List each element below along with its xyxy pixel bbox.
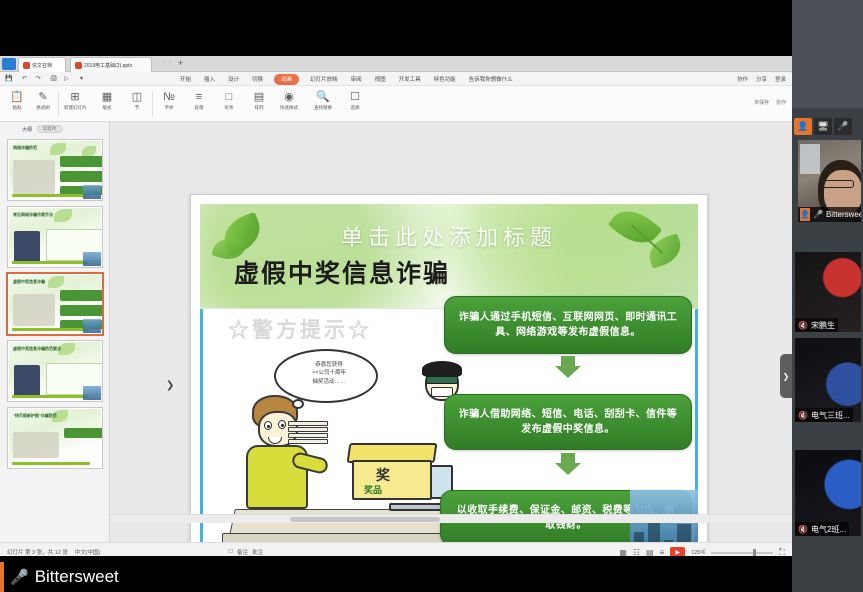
microphone-muted-icon: 🔇 xyxy=(798,411,808,420)
accent-edge xyxy=(0,562,4,592)
city-image xyxy=(83,185,101,199)
slide-thumbnail-panel[interactable]: 大纲 幻灯片 网络诈骗防范 xyxy=(0,122,110,542)
ribbon-tab-7[interactable]: 视图 xyxy=(373,74,388,84)
ribbon-button-select-label: 选择 xyxy=(344,105,366,111)
comments-button[interactable]: 批注 xyxy=(252,548,263,556)
ribbon-unsaved-label: 未保存 xyxy=(754,99,769,106)
ribbon-button-style[interactable]: ◉ 快速样式 xyxy=(278,90,300,111)
mask-shape xyxy=(426,376,458,384)
prize-box-icon: 奖 奖品 xyxy=(346,443,438,505)
thumbnail-slide-1[interactable]: 网络诈骗防范 xyxy=(7,139,103,201)
slide-content: 单击此处添加标题 虚假中奖信息诈骗 ☆警方提示☆ xyxy=(200,204,698,562)
ribbon-body: 📋 粘贴 ✎ 格式刷 ⊞ 新建幻灯片 ▦ 版式 ◫ 节 № xyxy=(0,86,792,122)
thumbnail-title: "钱币换新护照"诈骗防范 xyxy=(13,413,57,419)
document-tab-strip: 信文召档 2019电工基础(2).pptx ··· + xyxy=(0,56,792,72)
footer-bar xyxy=(12,395,88,398)
footer-bar xyxy=(12,194,90,197)
thumbnail-slide-4[interactable]: 虚假中奖信息诈骗防范要点 xyxy=(7,340,103,402)
ribbon-tab-10[interactable]: 告诉我你想做什么 xyxy=(467,74,515,84)
document-tab-0[interactable]: 信文召档 xyxy=(18,57,66,72)
ribbon-tab-2[interactable]: 设计 xyxy=(226,74,241,84)
ribbon-tab-6[interactable]: 审阅 xyxy=(349,74,364,84)
quick-access-row: 💾 ↶ ↷ 🖨 ▷ ▾ 开始 插入 设计 切换 动画 幻灯片放映 审阅 视图 开… xyxy=(0,72,792,86)
ribbon-button-format-brush[interactable]: ✎ 格式刷 xyxy=(32,90,54,111)
ribbon-button-shape-label: 形状 xyxy=(218,105,240,111)
video-rail-header xyxy=(792,0,863,108)
thumbnail-title: 常见网络诈骗作案手法 xyxy=(13,212,53,218)
ribbon-tab-0[interactable]: 开始 xyxy=(178,74,193,84)
city-image xyxy=(83,252,101,266)
slide-title[interactable]: 虚假中奖信息诈骗 xyxy=(234,254,450,290)
save-icon[interactable]: 💾 xyxy=(5,75,12,82)
illustration-placeholder xyxy=(13,432,59,458)
find-icon: 🔍 xyxy=(312,90,334,104)
ribbon-button-paste[interactable]: 📋 粘贴 xyxy=(6,90,28,111)
participant-name-2: 电气2班... xyxy=(811,524,846,535)
status-left-group: 幻灯片 第 3 张，共 12 张 中文(中国) xyxy=(7,548,101,556)
text-caret: ❯ xyxy=(166,380,174,391)
flow-box-1[interactable]: 诈骗人通过手机短信、互联网网页、即时通讯工具、网络游戏等发布虚假信息。 xyxy=(444,296,692,354)
ribbon-tab-3[interactable]: 切换 xyxy=(250,74,265,84)
ribbon-button-paragraph[interactable]: ≡ 段落 xyxy=(188,90,210,111)
format-brush-icon: ✎ xyxy=(32,90,54,104)
glasses-icon xyxy=(820,180,854,188)
arrow-stem xyxy=(561,453,575,463)
powerpoint-window: 信文召档 2019电工基础(2).pptx ··· + 💾 ↶ ↷ 🖨 ▷ ▾ … xyxy=(0,56,792,562)
flow-box xyxy=(60,156,103,167)
thumbnail-slide-5[interactable]: "钱币换新护照"诈骗防范 xyxy=(7,407,103,469)
self-video-tile[interactable]: 👤 🎤 Bittersweet xyxy=(798,140,861,222)
flow-box xyxy=(64,428,103,438)
ppt-icon xyxy=(75,62,82,69)
language-indicator[interactable]: 中文(中国) xyxy=(75,548,101,556)
ribbon-button-arrange-label: 排列 xyxy=(248,105,270,111)
video-control-row: 👤 🖥 🎤 xyxy=(794,118,852,135)
top-letterbox xyxy=(0,0,792,56)
ribbon-button-layout[interactable]: ▦ 版式 xyxy=(96,90,118,111)
ribbon-button-arrange[interactable]: ▤ 排列 xyxy=(248,90,270,111)
panel-collapse-handle[interactable]: ❯ xyxy=(780,354,792,398)
participant-tile-2[interactable]: 🔇 电气2班... xyxy=(795,450,861,536)
flow-box xyxy=(60,171,103,182)
ribbon-button-shape[interactable]: □ 形状 xyxy=(218,90,240,111)
participant-name-0: 宋鹏生 xyxy=(811,320,835,331)
shape-icon: □ xyxy=(218,90,240,104)
screen-share-icon[interactable]: 🖥 xyxy=(814,118,832,135)
city-image xyxy=(83,386,101,400)
pupil-shape xyxy=(281,424,284,427)
ribbon-right-actions: 协作 分享 登录 xyxy=(737,75,786,83)
money-stack-icon xyxy=(288,421,328,447)
window-shape xyxy=(800,144,820,174)
thumbnail-slide-2[interactable]: 常见网络诈骗作案手法 xyxy=(7,206,103,268)
horizontal-scrollbar[interactable] xyxy=(110,514,792,523)
avatar: 👤 xyxy=(800,208,810,221)
thumbnail-slide-3[interactable]: 虚假中奖信息诈骗 xyxy=(7,273,103,335)
ribbon-button-paste-label: 粘贴 xyxy=(6,105,28,111)
slide-counter: 幻灯片 第 3 张，共 12 张 xyxy=(7,548,68,556)
status-mid-group: ☐ 备注 批注 xyxy=(228,548,263,556)
participant-name-bar-2: 🔇 电气2班... xyxy=(795,522,849,536)
ribbon-divider-1 xyxy=(58,91,59,117)
microphone-muted-icon: 🔇 xyxy=(798,525,808,534)
arrow-stem xyxy=(561,356,575,366)
ribbon-divider-2 xyxy=(152,91,153,117)
prize-glyph: 奖 xyxy=(376,465,390,485)
ribbon-button-layout-label: 版式 xyxy=(96,105,118,111)
doc-icon xyxy=(23,62,30,69)
illustration-placeholder xyxy=(13,160,55,194)
ribbon-button-new-slide[interactable]: ⊞ 新建幻灯片 xyxy=(64,90,86,111)
document-tab-1-label: 2019电工基础(2).pptx xyxy=(84,62,132,69)
participants-icon[interactable]: 👤 xyxy=(794,118,812,135)
document-tab-1[interactable]: 2019电工基础(2).pptx xyxy=(70,57,152,72)
police-figure xyxy=(14,231,40,263)
pointer-icon[interactable]: ▷ xyxy=(64,75,69,82)
microphone-muted-icon: 🔇 xyxy=(798,321,808,330)
ribbon-tab-list: 开始 插入 设计 切换 动画 幻灯片放映 审阅 视图 开发工具 特色功能 告诉我… xyxy=(178,72,515,86)
zoom-out-icon[interactable]: − xyxy=(702,547,706,553)
chevron-down-icon[interactable]: ▾ xyxy=(80,75,83,82)
zoom-in-icon[interactable]: + xyxy=(779,547,783,553)
ribbon-status-info: 未保存 协作 xyxy=(754,99,786,106)
footer-bar xyxy=(12,328,90,331)
ribbon-button-find-label: 查找替换 xyxy=(312,105,334,111)
participant-tile-1[interactable]: 🔇 电气三班... xyxy=(795,338,861,422)
thumbnail-title: 网络诈骗防范 xyxy=(13,145,37,151)
microphone-icon[interactable]: 🎤 xyxy=(813,210,823,219)
ribbon-tab-1[interactable]: 插入 xyxy=(202,74,217,84)
work-area: 大纲 幻灯片 网络诈骗防范 xyxy=(0,122,792,542)
ribbon-button-select[interactable]: ☐ 选择 xyxy=(344,90,366,111)
ribbon-tab-4[interactable]: 动画 xyxy=(274,74,299,85)
ribbon-tab-9[interactable]: 特色功能 xyxy=(432,74,458,84)
scrollbar-thumb[interactable] xyxy=(290,517,440,522)
style-icon: ◉ xyxy=(278,90,300,104)
notes-icon[interactable]: ☐ xyxy=(228,549,233,555)
participant-tile-0[interactable]: 🔇 宋鹏生 xyxy=(795,252,861,332)
paste-icon: 📋 xyxy=(6,90,28,104)
participant-name-bar-0: 🔇 宋鹏生 xyxy=(795,318,838,332)
speech-bubble-tail xyxy=(292,399,304,409)
thumbnail-title: 虚假中奖信息诈骗防范要点 xyxy=(13,346,61,352)
speech-bubble: 恭喜您获得 ××公司十周年 抽奖活动…… xyxy=(274,349,378,403)
ribbon-button-format-brush-label: 格式刷 xyxy=(32,105,54,111)
police-figure xyxy=(14,365,40,397)
share-action[interactable]: 分享 xyxy=(756,75,767,83)
microphone-icon[interactable]: 🎤 xyxy=(10,568,29,586)
ribbon-button-new-slide-label: 新建幻灯片 xyxy=(64,105,86,111)
self-video-name-bar: 👤 🎤 Bittersweet xyxy=(798,207,861,222)
redo-icon[interactable]: ↷ xyxy=(36,75,41,82)
hair-shape xyxy=(422,361,462,377)
print-icon[interactable]: 🖨 xyxy=(50,75,58,82)
signin-action[interactable]: 登录 xyxy=(775,75,786,83)
screen-root: 信文召档 2019电工基础(2).pptx ··· + 💾 ↶ ↷ 🖨 ▷ ▾ … xyxy=(0,0,863,592)
ribbon-collab-label: 协作 xyxy=(776,99,786,106)
new-slide-icon: ⊞ xyxy=(64,90,86,104)
paragraph-icon: ≡ xyxy=(188,90,210,104)
ribbon-button-style-label: 快速样式 xyxy=(278,105,300,111)
arrange-icon: ▤ xyxy=(248,90,270,104)
illustration-placeholder xyxy=(13,294,55,326)
section-icon: ◫ xyxy=(126,90,148,104)
slide-title-placeholder[interactable]: 单击此处添加标题 xyxy=(200,220,698,252)
notes-button[interactable]: 备注 xyxy=(237,548,248,556)
ribbon-tab-8[interactable]: 开发工具 xyxy=(397,74,423,84)
slides-tab-label[interactable]: 幻灯片 xyxy=(37,125,63,133)
ribbon-tab-5[interactable]: 幻灯片放映 xyxy=(308,74,340,84)
tab-overflow-controls[interactable]: ··· xyxy=(156,59,175,66)
video-conference-rail: 👤 🖥 🎤 👤 🎤 Bittersweet 🔇 宋鹏生 🔇 xyxy=(792,0,863,592)
thumbnail-panel-header: 大纲 幻灯片 xyxy=(0,122,109,136)
thumbnail-title: 虚假中奖信息诈骗 xyxy=(13,279,45,285)
self-video-name: Bittersweet xyxy=(826,210,861,219)
ribbon-button-paragraph-label: 段落 xyxy=(188,105,210,111)
undo-icon[interactable]: ↶ xyxy=(22,75,27,82)
police-tip-watermark: ☆警方提示☆ xyxy=(228,314,372,344)
arrow-head xyxy=(555,366,581,378)
flow-box-2[interactable]: 诈骗人借助网络、短信、电话、刮刮卡、信件等发布虚假中奖信息。 xyxy=(444,394,692,450)
ribbon-button-font-label: 字体 xyxy=(158,105,180,111)
slide-editor[interactable]: 单击此处添加标题 虚假中奖信息诈骗 ☆警方提示☆ xyxy=(190,194,708,562)
participant-name-1: 电气三班... xyxy=(811,410,850,421)
prize-label: 奖品 xyxy=(364,483,382,496)
layout-icon: ▦ xyxy=(96,90,118,104)
footer-bar xyxy=(12,261,88,264)
outline-tab-label[interactable]: 大纲 xyxy=(22,126,32,133)
pupil-shape xyxy=(267,425,270,428)
active-speaker-name: Bittersweet xyxy=(35,567,119,587)
bottom-status-bar: 🎤 Bittersweet xyxy=(0,562,792,592)
ribbon-button-section[interactable]: ◫ 节 xyxy=(126,90,148,111)
ribbon-button-section-label: 节 xyxy=(126,105,148,111)
collab-action[interactable]: 协作 xyxy=(737,75,748,83)
microphone-icon[interactable]: 🎤 xyxy=(834,118,852,135)
ribbon-button-find[interactable]: 🔍 查找替换 xyxy=(312,90,334,111)
app-logo-icon xyxy=(2,58,16,70)
ribbon-button-font[interactable]: № 字体 xyxy=(158,90,180,111)
city-image xyxy=(83,319,101,333)
document-tab-0-label: 信文召档 xyxy=(32,62,52,69)
font-icon: № xyxy=(158,90,180,104)
arrow-head xyxy=(555,463,581,475)
victim-figure xyxy=(242,395,324,515)
flow-box xyxy=(60,305,103,316)
new-tab-button[interactable]: + xyxy=(178,58,183,69)
flow-arrow-1 xyxy=(555,356,581,378)
speech-bubble-text: 恭喜您获得 ××公司十周年 抽奖活动…… xyxy=(286,361,372,386)
select-icon: ☐ xyxy=(344,90,366,104)
flow-box xyxy=(60,290,103,301)
slide-canvas-area: ❯ 单击此处添加标题 虚假 xyxy=(110,122,792,542)
footer-bar xyxy=(12,462,90,465)
flow-arrow-2 xyxy=(555,453,581,475)
zoom-slider[interactable]: − + xyxy=(711,552,773,554)
participant-name-bar-1: 🔇 电气三班... xyxy=(795,408,853,422)
